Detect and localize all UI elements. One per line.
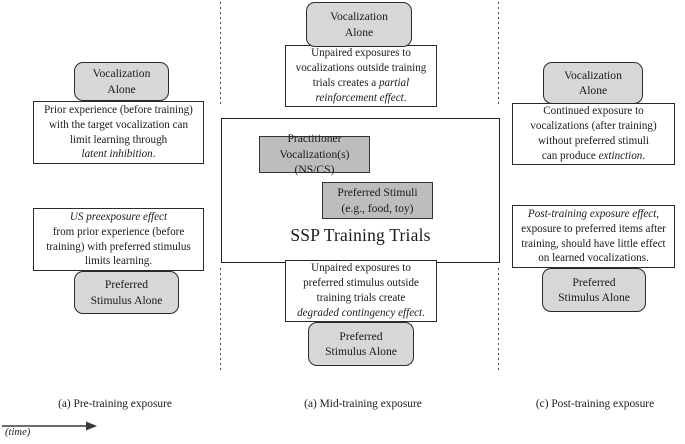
- pill-label: VocalizationAlone: [93, 66, 151, 97]
- figure-canvas: VocalizationAlone Prior experience (befo…: [0, 0, 685, 444]
- note-post-training-exposure: Post-training exposure effect,exposure t…: [512, 205, 675, 268]
- pill-label: VocalizationAlone: [330, 9, 388, 40]
- caption-pre-training: (a) Pre-training exposure: [0, 398, 230, 410]
- note-text: Continued exposure tovocalizations (afte…: [530, 104, 656, 163]
- note-partial-reinforcement: Unpaired exposures tovocalizations outsi…: [285, 45, 437, 107]
- note-degraded-contingency: Unpaired exposures topreferred stimulus …: [285, 260, 437, 322]
- note-extinction: Continued exposure tovocalizations (afte…: [512, 103, 675, 165]
- pill-label: PreferredStimulus Alone: [325, 329, 397, 360]
- note-us-preexposure: US preexposure effectfrom prior experien…: [33, 208, 204, 271]
- ssp-training-trials-box: PractitionerVocalization(s) (NS/CS) Pref…: [221, 118, 500, 263]
- pill-preferred-stimulus-alone-mid: PreferredStimulus Alone: [308, 322, 414, 366]
- pill-label: VocalizationAlone: [564, 68, 622, 99]
- pill-preferred-stimulus-alone-post: PreferredStimulus Alone: [542, 268, 646, 312]
- note-text: Unpaired exposures tovocalizations outsi…: [296, 46, 427, 105]
- box-practitioner-vocalization: PractitionerVocalization(s) (NS/CS): [259, 136, 370, 173]
- caption-post-training: (c) Post-training exposure: [505, 398, 685, 410]
- pill-vocalization-alone-mid: VocalizationAlone: [306, 2, 412, 47]
- box-label: PractitionerVocalization(s) (NS/CS): [260, 131, 369, 178]
- note-latent-inhibition: Prior experience (before training)with t…: [33, 101, 204, 164]
- pill-vocalization-alone-pre: VocalizationAlone: [74, 62, 169, 101]
- pill-label: PreferredStimulus Alone: [91, 277, 163, 308]
- pill-label: PreferredStimulus Alone: [558, 275, 630, 306]
- ssp-title: SSP Training Trials: [222, 225, 499, 246]
- pill-preferred-stimulus-alone-pre: PreferredStimulus Alone: [74, 271, 179, 314]
- note-text: Unpaired exposures topreferred stimulus …: [297, 261, 425, 320]
- pill-vocalization-alone-post: VocalizationAlone: [543, 62, 643, 104]
- note-text: Prior experience (before training)with t…: [44, 103, 193, 162]
- time-axis-label: (time): [5, 427, 30, 438]
- caption-mid-training: (a) Mid-training exposure: [248, 398, 478, 410]
- box-label: Preferred Stimuli(e.g., food, toy): [337, 185, 417, 216]
- note-text: US preexposure effectfrom prior experien…: [46, 210, 191, 269]
- note-text: Post-training exposure effect,exposure t…: [521, 207, 666, 266]
- box-preferred-stimuli: Preferred Stimuli(e.g., food, toy): [322, 182, 433, 219]
